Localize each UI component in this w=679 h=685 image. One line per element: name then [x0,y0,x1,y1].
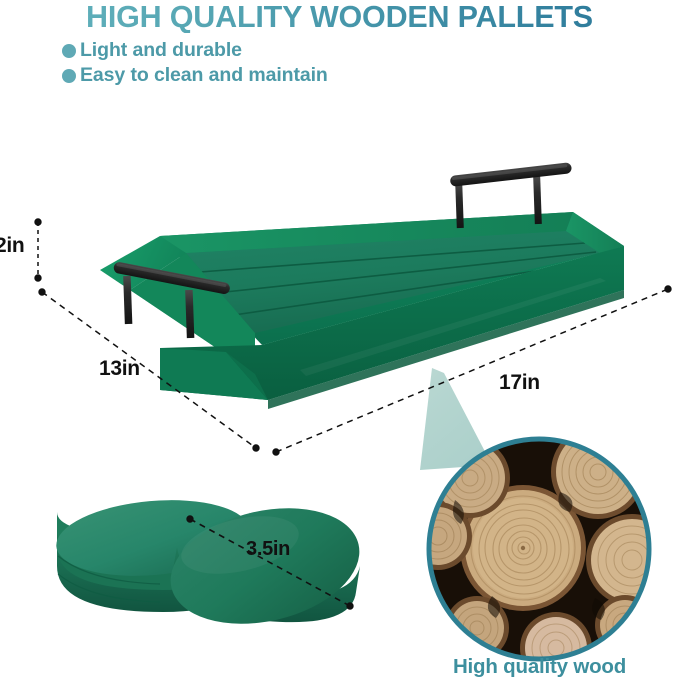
dimension-label-coaster-diameter: 3.5in [246,538,290,561]
dimension-line-height [35,219,41,281]
coaster-group [53,491,371,641]
dimension-label-length: 17in [499,371,540,395]
tray-group [100,162,624,409]
dimension-label-height: 2in [0,234,24,258]
dimension-label-width: 13in [99,357,140,381]
log-right [586,514,678,606]
product-infographic: HIGH QUALITY WOODEN PALLETS Light and du… [0,0,679,685]
magnifier-caption: High quality wood [400,655,679,679]
log-bottom-right [595,595,655,655]
product-illustration [0,0,679,685]
